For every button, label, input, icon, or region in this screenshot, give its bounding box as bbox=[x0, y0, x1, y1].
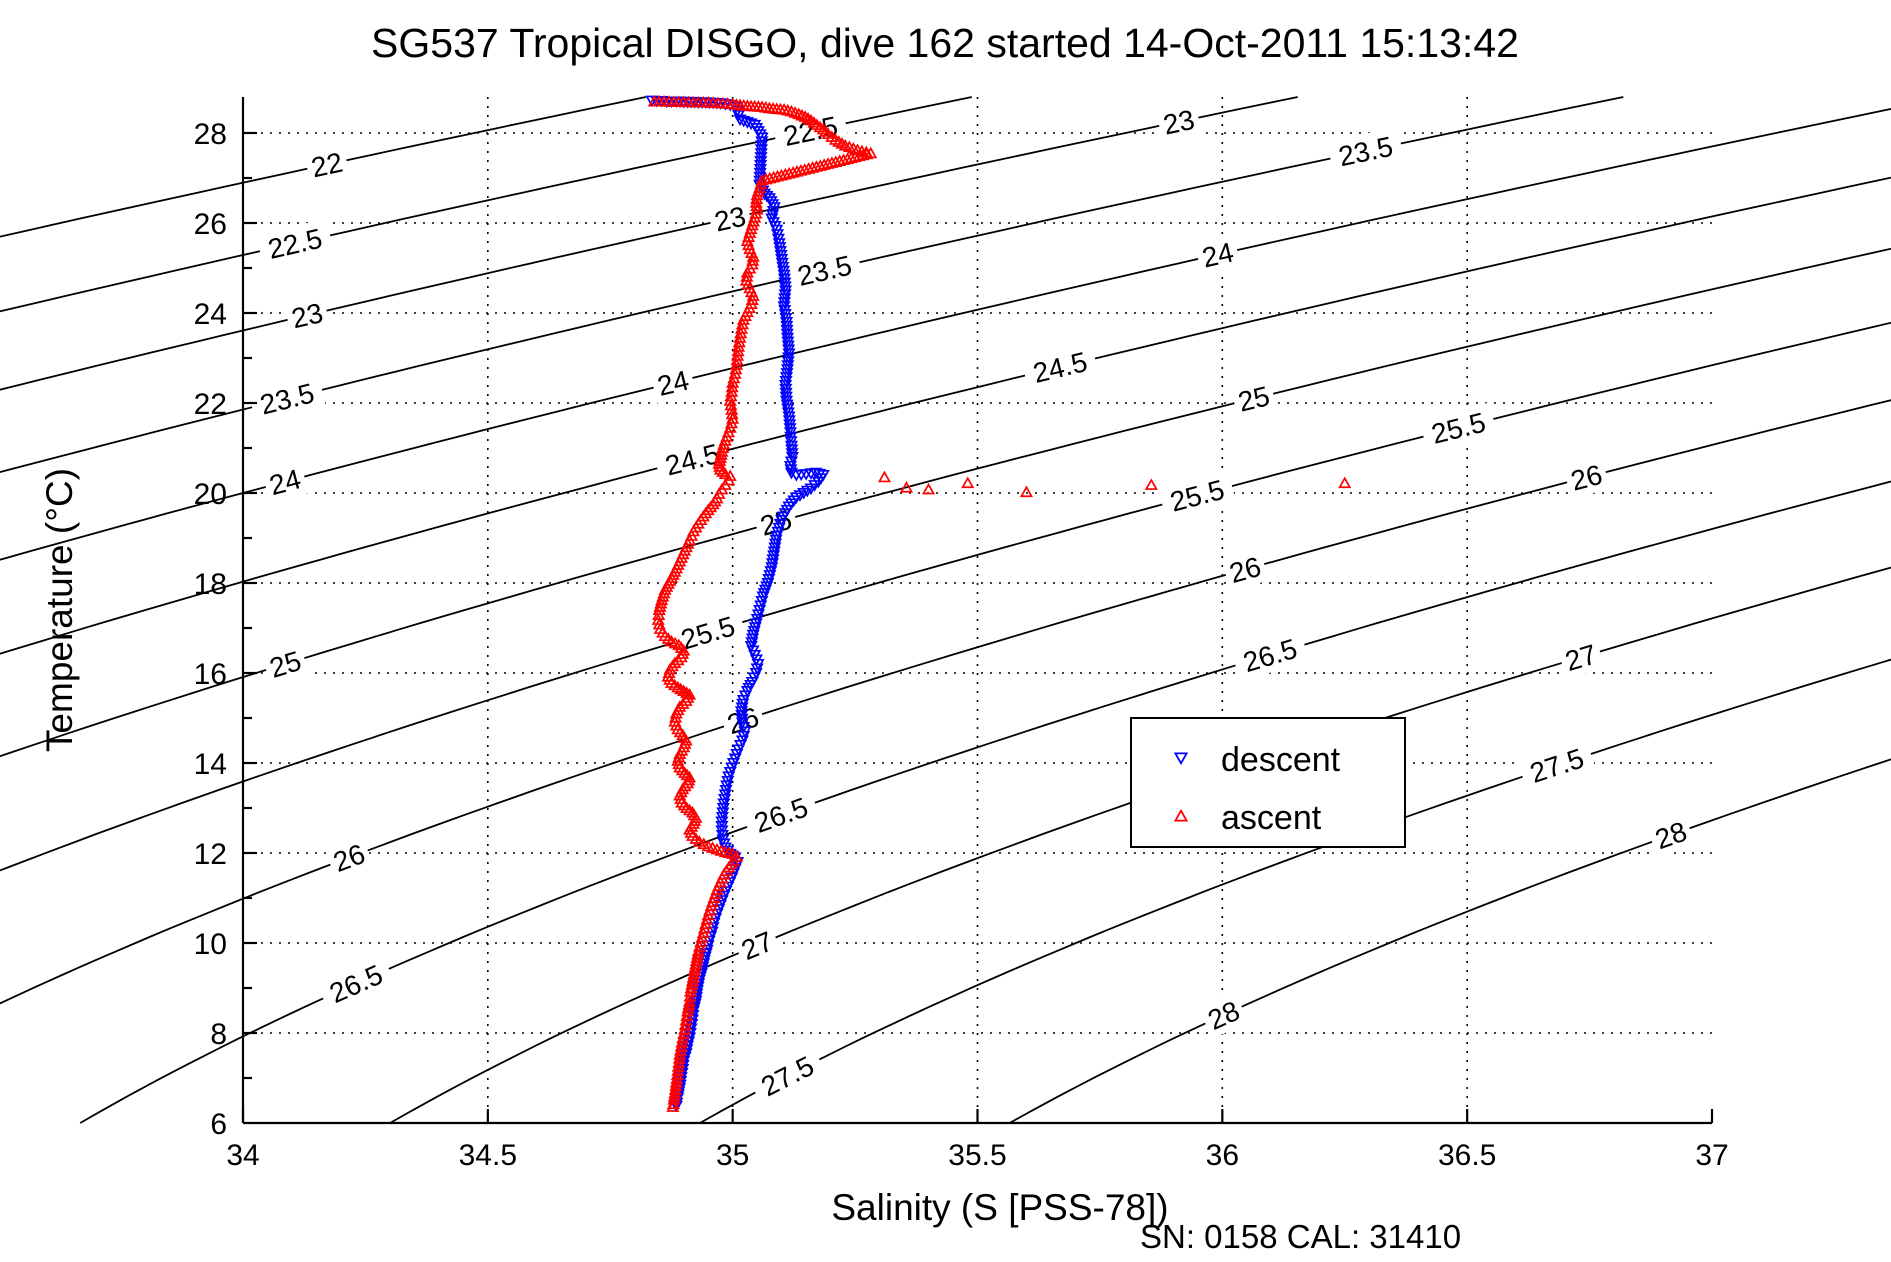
data-marker-outlier bbox=[879, 472, 889, 481]
density-contour-label: 22 bbox=[309, 147, 346, 184]
density-contour-label: 25.5 bbox=[1428, 407, 1488, 450]
footer-serial-cal: SN: 0158 CAL: 31410 bbox=[1140, 1218, 1461, 1255]
density-contour-label: 26.5 bbox=[1240, 633, 1301, 678]
x-tick-label: 36.5 bbox=[1438, 1139, 1496, 1172]
page-title: SG537 Tropical DISGO, dive 162 started 1… bbox=[371, 20, 1519, 66]
figure-root: SG537 Tropical DISGO, dive 162 started 1… bbox=[0, 0, 1891, 1262]
density-contour-26-5 bbox=[80, 456, 1891, 1123]
y-tick-label: 28 bbox=[194, 118, 227, 151]
legend-label-descent[interactable]: descent bbox=[1221, 741, 1341, 779]
y-tick-label: 8 bbox=[210, 1018, 227, 1051]
y-tick-label: 20 bbox=[194, 478, 227, 511]
x-tick-label: 36 bbox=[1206, 1139, 1239, 1172]
density-contour-label: 23 bbox=[712, 200, 749, 237]
y-tick-label: 24 bbox=[194, 298, 227, 331]
x-axis-label: Salinity (S [PSS-78]) bbox=[831, 1187, 1168, 1228]
density-contour-label: 23.5 bbox=[1336, 131, 1396, 173]
density-contour-label: 22.5 bbox=[265, 223, 325, 265]
data-marker-outlier bbox=[1340, 478, 1350, 487]
y-tick-label: 26 bbox=[194, 208, 227, 241]
y-tick-label: 10 bbox=[194, 928, 227, 961]
x-tick-label: 34.5 bbox=[459, 1139, 517, 1172]
density-contour-27-5 bbox=[700, 629, 1891, 1123]
y-tick-label: 6 bbox=[210, 1108, 227, 1141]
series-descent[interactable] bbox=[647, 96, 829, 1110]
ts-diagram-svg: SG537 Tropical DISGO, dive 162 started 1… bbox=[0, 0, 1891, 1262]
data-marker-outlier bbox=[963, 478, 973, 487]
x-tick-label: 35 bbox=[716, 1139, 749, 1172]
x-tick-label: 35.5 bbox=[948, 1139, 1006, 1172]
y-tick-label: 18 bbox=[194, 568, 227, 601]
y-tick-label: 16 bbox=[194, 658, 227, 691]
y-tick-label: 14 bbox=[194, 748, 227, 781]
density-contour-label: 24.5 bbox=[662, 438, 723, 482]
y-tick-label: 12 bbox=[194, 838, 227, 871]
data-marker-outlier bbox=[1146, 480, 1156, 489]
density-contour-label: 23.5 bbox=[795, 250, 855, 292]
legend-label-ascent[interactable]: ascent bbox=[1221, 799, 1322, 837]
density-contour-label: 27.5 bbox=[1526, 742, 1587, 789]
legend[interactable]: descentascent bbox=[1131, 718, 1405, 847]
y-axis-label: Temperature (°C) bbox=[39, 468, 80, 752]
x-tick-label: 37 bbox=[1695, 1139, 1728, 1172]
axis-ticks: 81012141618202224262863434.53535.53636.5… bbox=[194, 118, 1729, 1172]
density-contour-label: 23.5 bbox=[257, 377, 317, 420]
density-contour-labels: 2222.522.523232323.523.523.524242424.524… bbox=[248, 101, 1695, 1107]
density-contour-24 bbox=[0, 97, 1891, 572]
density-contour-label: 24.5 bbox=[1030, 346, 1090, 389]
data-marker-outlier bbox=[1021, 487, 1031, 496]
density-contour-label: 23 bbox=[1160, 104, 1197, 141]
density-contour-label: 25.5 bbox=[677, 610, 738, 655]
x-tick-label: 34 bbox=[226, 1139, 259, 1172]
density-contour-label: 25.5 bbox=[1167, 474, 1228, 518]
y-tick-label: 22 bbox=[194, 388, 227, 421]
